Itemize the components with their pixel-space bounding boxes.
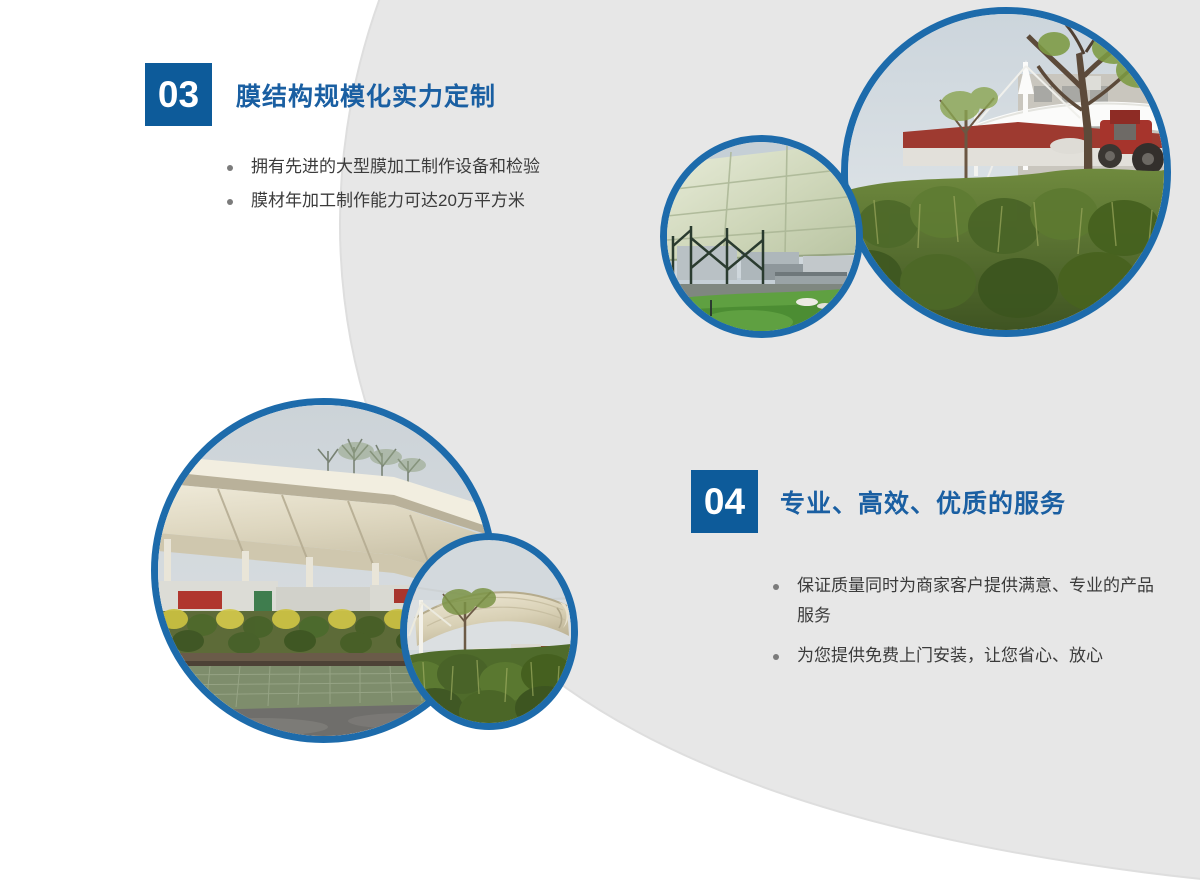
section-03-bullet-list: 拥有先进的大型膜加工制作设备和检验 膜材年加工制作能力可达20万平方米 [223, 152, 623, 216]
section-04-title: 专业、高效、优质的服务 [780, 484, 1066, 520]
list-item: 拥有先进的大型膜加工制作设备和检验 [223, 152, 623, 182]
list-item: 为您提供免费上门安装，让您省心、放心 [769, 641, 1161, 671]
section-04-number-badge: 04 [691, 470, 758, 533]
list-item: 保证质量同时为商家客户提供满意、专业的产品服务 [769, 571, 1161, 631]
poster-page: 03 膜结构规模化实力定制 拥有先进的大型膜加工制作设备和检验 膜材年加工制作能… [0, 0, 1200, 885]
photo-membrane-awning-plants [400, 533, 578, 730]
section-04-header: 04 专业、高效、优质的服务 [691, 470, 1161, 533]
section-03-header: 03 膜结构规模化实力定制 [145, 63, 615, 126]
photo-membrane-sports-field [660, 135, 863, 338]
section-03-number-badge: 03 [145, 63, 212, 126]
section-03-title: 膜结构规模化实力定制 [236, 77, 496, 113]
section-03: 03 膜结构规模化实力定制 拥有先进的大型膜加工制作设备和检验 膜材年加工制作能… [145, 63, 615, 220]
list-item: 膜材年加工制作能力可达20万平方米 [223, 186, 623, 216]
section-04: 04 专业、高效、优质的服务 保证质量同时为商家客户提供满意、专业的产品服务 为… [691, 470, 1161, 681]
section-04-bullet-list: 保证质量同时为商家客户提供满意、专业的产品服务 为您提供免费上门安装，让您省心、… [769, 571, 1161, 671]
photo-membrane-canopy-tractor [841, 7, 1171, 337]
